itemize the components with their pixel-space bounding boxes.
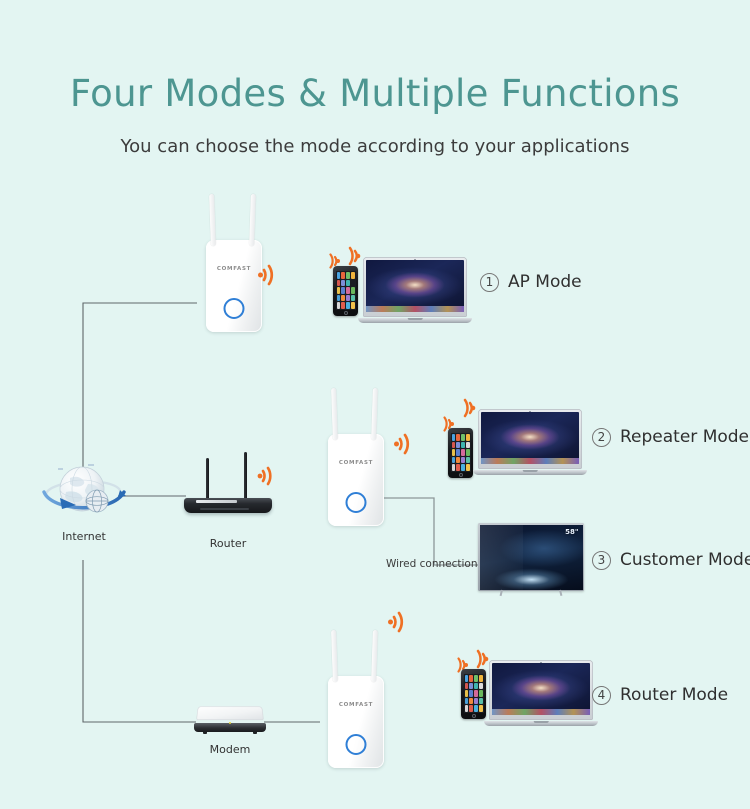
wifi-signal-icon xyxy=(469,648,491,670)
laptop-icon xyxy=(478,409,582,475)
wifi-signal-icon xyxy=(456,397,478,419)
mode-text-2: Repeater Mode xyxy=(620,427,749,447)
phone-screen xyxy=(336,271,356,310)
laptop-screen xyxy=(492,663,590,715)
smartphone-icon xyxy=(461,669,486,719)
phone-home-button xyxy=(344,311,348,315)
wifi-signal-icon xyxy=(341,245,363,267)
laptop-icon xyxy=(363,257,467,323)
diagram-canvas: Four Modes & Multiple Functions You can … xyxy=(0,0,750,809)
extender-led-icon xyxy=(224,298,245,319)
extender-brand: COMFAST xyxy=(328,460,384,466)
globe-icon xyxy=(40,456,128,518)
mode-label-2: 2 Repeater Mode xyxy=(592,427,749,447)
wifi-signal-icon xyxy=(392,430,418,458)
router-label: Router xyxy=(182,537,274,550)
wifi-signal-icon xyxy=(386,608,412,636)
mode-text-3: Customer Mode xyxy=(620,550,750,570)
mode-number-2: 2 xyxy=(592,428,611,447)
mode-label-3: 3 Customer Mode xyxy=(592,550,750,570)
laptop-screen xyxy=(366,260,464,312)
page-title: Four Modes & Multiple Functions xyxy=(0,72,750,115)
mode-number-3: 3 xyxy=(592,551,611,570)
phone-screen xyxy=(451,433,471,472)
wifi-extender-icon: COMFAST xyxy=(328,434,384,526)
tv-size-label: 58" xyxy=(565,528,578,536)
tv-screen: 58" xyxy=(480,525,583,590)
page-subtitle: You can choose the mode according to you… xyxy=(0,136,750,157)
phone-home-button xyxy=(472,714,476,718)
mode-label-1: 1 AP Mode xyxy=(480,272,582,292)
laptop-screen xyxy=(481,412,579,464)
smartphone-icon xyxy=(333,266,358,316)
extender-brand: COMFAST xyxy=(206,266,262,272)
mode-text-1: AP Mode xyxy=(508,272,582,292)
wifi-signal-icon xyxy=(256,261,282,289)
extender-led-icon xyxy=(346,734,367,755)
internet-label: Internet xyxy=(38,530,130,543)
laptop-icon xyxy=(489,660,593,726)
modem-label: Modem xyxy=(184,743,276,756)
phone-screen xyxy=(464,674,484,713)
mode-number-1: 1 xyxy=(480,273,499,292)
extender-brand: COMFAST xyxy=(328,702,384,708)
mode-number-4: 4 xyxy=(592,686,611,705)
wifi-extender-icon: COMFAST xyxy=(206,240,262,332)
wifi-signal-icon xyxy=(256,463,282,489)
mode-text-4: Router Mode xyxy=(620,685,728,705)
extender-led-icon xyxy=(346,492,367,513)
modem-icon xyxy=(194,706,266,732)
television-icon: 58" xyxy=(478,523,584,591)
smartphone-icon xyxy=(448,428,473,478)
wired-connection-label: Wired connection xyxy=(386,558,477,570)
mode-label-4: 4 Router Mode xyxy=(592,685,728,705)
phone-home-button xyxy=(459,473,463,477)
wifi-extender-icon: COMFAST xyxy=(328,676,384,768)
